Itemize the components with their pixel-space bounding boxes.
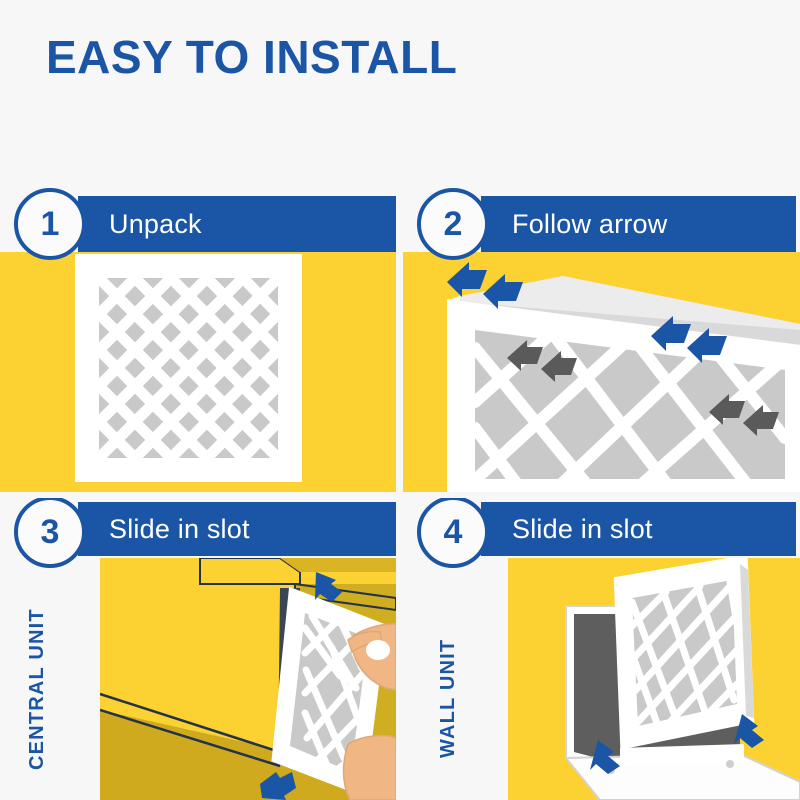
step-4-badge: 4 [417, 498, 489, 568]
step-1-header: Unpack [78, 196, 396, 252]
step-2-label: Follow arrow [512, 209, 667, 240]
step-panel-3: Slide in slot 3 [0, 498, 400, 800]
step-2-illustration-area [403, 252, 800, 492]
step-3-header: Slide in slot [78, 502, 396, 556]
central-unit-caption: CENTRAL UNIT [26, 608, 49, 770]
filter-panel [622, 564, 754, 740]
step-panel-4: Slide in slot 4 [403, 498, 800, 800]
step-1-label: Unpack [109, 209, 202, 240]
step-2-badge: 2 [417, 188, 489, 260]
air-filter-front-icon [0, 252, 396, 492]
step-3-illustration-area [100, 558, 396, 800]
step-4-header: Slide in slot [481, 502, 796, 556]
step-4-illustration-area [508, 558, 800, 800]
page-title: EASY TO INSTALL [46, 34, 457, 80]
step-3-label: Slide in slot [109, 514, 250, 545]
step-panel-1: Unpack 1 [0, 186, 400, 492]
central-unit-install-icon [100, 558, 396, 800]
air-filter-angled-icon [403, 252, 800, 492]
wall-unit-install-icon [508, 558, 800, 800]
step-2-header: Follow arrow [481, 196, 796, 252]
step-panel-2: Follow arrow 2 [403, 186, 800, 492]
step-1-illustration-area [0, 252, 396, 492]
step-1-badge: 1 [14, 188, 86, 260]
step-4-label: Slide in slot [512, 514, 653, 545]
infographic-root: EASY TO INSTALL [0, 0, 800, 800]
wall-unit-caption: WALL UNIT [437, 639, 460, 758]
step-3-badge: 3 [14, 498, 86, 568]
